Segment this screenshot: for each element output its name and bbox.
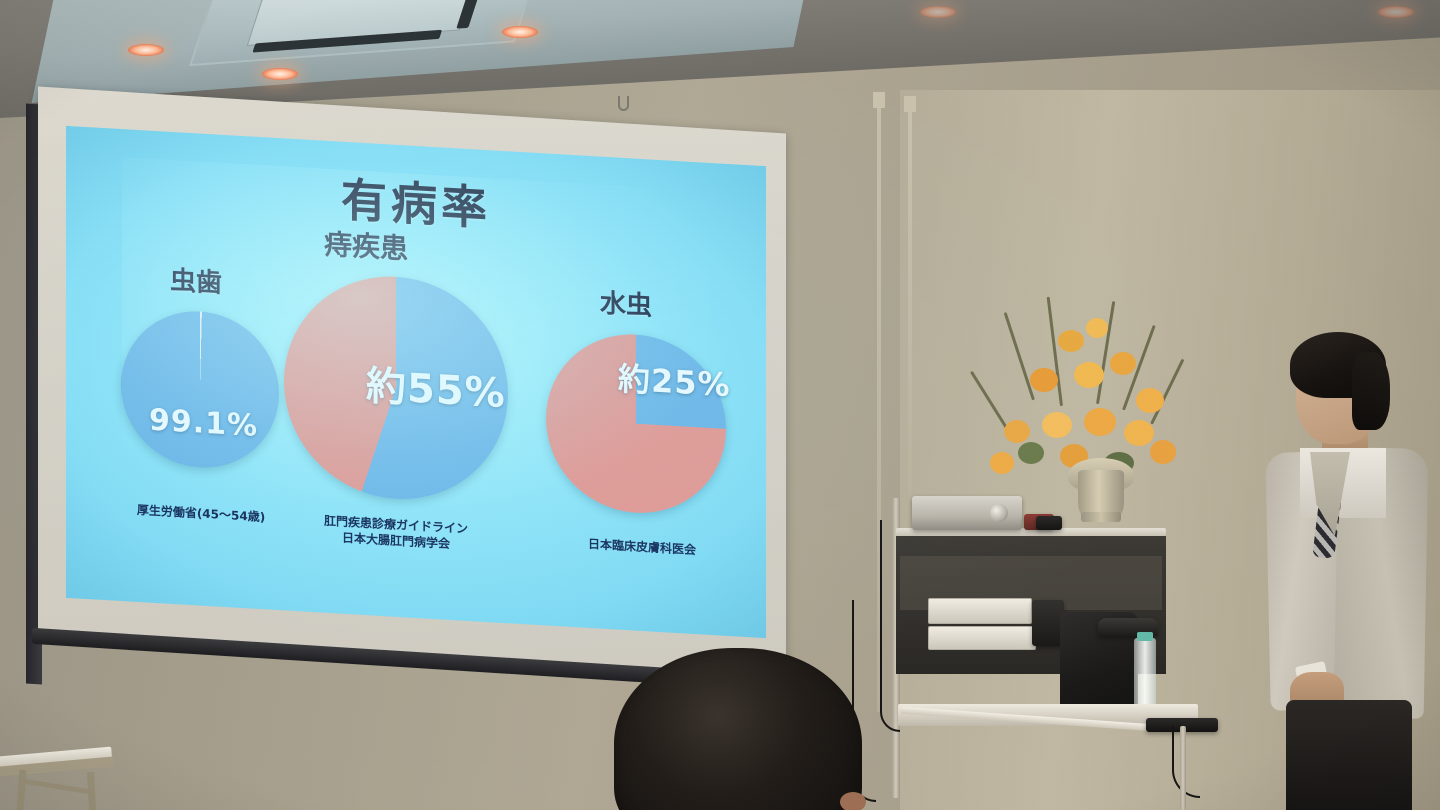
downlight-2: [262, 68, 298, 80]
pie-label-cavities: 虫歯: [106, 256, 286, 303]
presenter-hair-side: [1352, 352, 1390, 430]
flower-bloom-6: [1136, 388, 1164, 413]
downlight-4: [920, 6, 956, 18]
vase-foot: [1081, 512, 1121, 522]
audience-member-ear: [840, 792, 866, 810]
pie-value-athletes-foot: 約25%: [618, 354, 731, 406]
flower-bloom-7: [1004, 420, 1030, 443]
black-remote: [1036, 516, 1062, 530]
flower-bloom-9: [1084, 408, 1116, 436]
pie-caption-athletes-foot: 日本臨床皮膚科医会: [532, 533, 752, 562]
flower-bloom-8: [1042, 412, 1072, 438]
pie-chart-cavities: [121, 307, 279, 472]
flower-foliage-1: [1018, 442, 1044, 464]
flower-bloom-11: [1150, 440, 1176, 464]
flower-bloom-3: [1030, 368, 1058, 392]
pie-value-cavities: 99.1%: [149, 403, 258, 444]
pie-value-hemorrhoids: 約55%: [366, 353, 506, 419]
flower-bloom-12: [990, 452, 1014, 474]
flower-bloom-5: [1110, 352, 1136, 375]
lecture-room-photo: 有病率 虫歯 99.1% 厚生労働省(45〜54歳) 痔疾患 約55% 肛門疾患…: [0, 0, 1440, 810]
downlight-5: [1378, 6, 1414, 18]
flower-bloom-4: [1074, 362, 1104, 388]
power-cable-left: [880, 520, 900, 732]
projected-slide: 有病率 虫歯 99.1% 厚生労働省(45〜54歳) 痔疾患 約55% 肛門疾患…: [66, 126, 766, 638]
pie-label-athletes-foot: 水虫: [536, 279, 716, 326]
cart-post-right: [1180, 726, 1186, 810]
white-box-lower: [928, 626, 1036, 650]
wall-seam-2: [908, 96, 912, 516]
bottle-cap: [1137, 632, 1153, 641]
pie-caption-hemorrhoids: 肛門疾患診療ガイドライン 日本大腸肛門病学会: [266, 509, 526, 556]
flower-bloom-2: [1086, 318, 1108, 338]
white-box-upper: [928, 598, 1032, 624]
flower-bloom-1: [1058, 330, 1084, 352]
projector: [912, 496, 1022, 530]
flower-bloom-10: [1124, 420, 1154, 446]
downlight-1: [128, 44, 164, 56]
projection-screen: 有病率 虫歯 99.1% 厚生労働省(45〜54歳) 痔疾患 約55% 肛門疾患…: [26, 104, 786, 670]
downlight-3: [502, 26, 538, 38]
wall-seam-cap-2: [904, 96, 916, 112]
water-bottle: [1134, 638, 1156, 706]
presenter-trousers: [1286, 700, 1412, 810]
projector-lens-icon: [990, 504, 1008, 522]
wall-seam-cap-1: [873, 92, 885, 108]
